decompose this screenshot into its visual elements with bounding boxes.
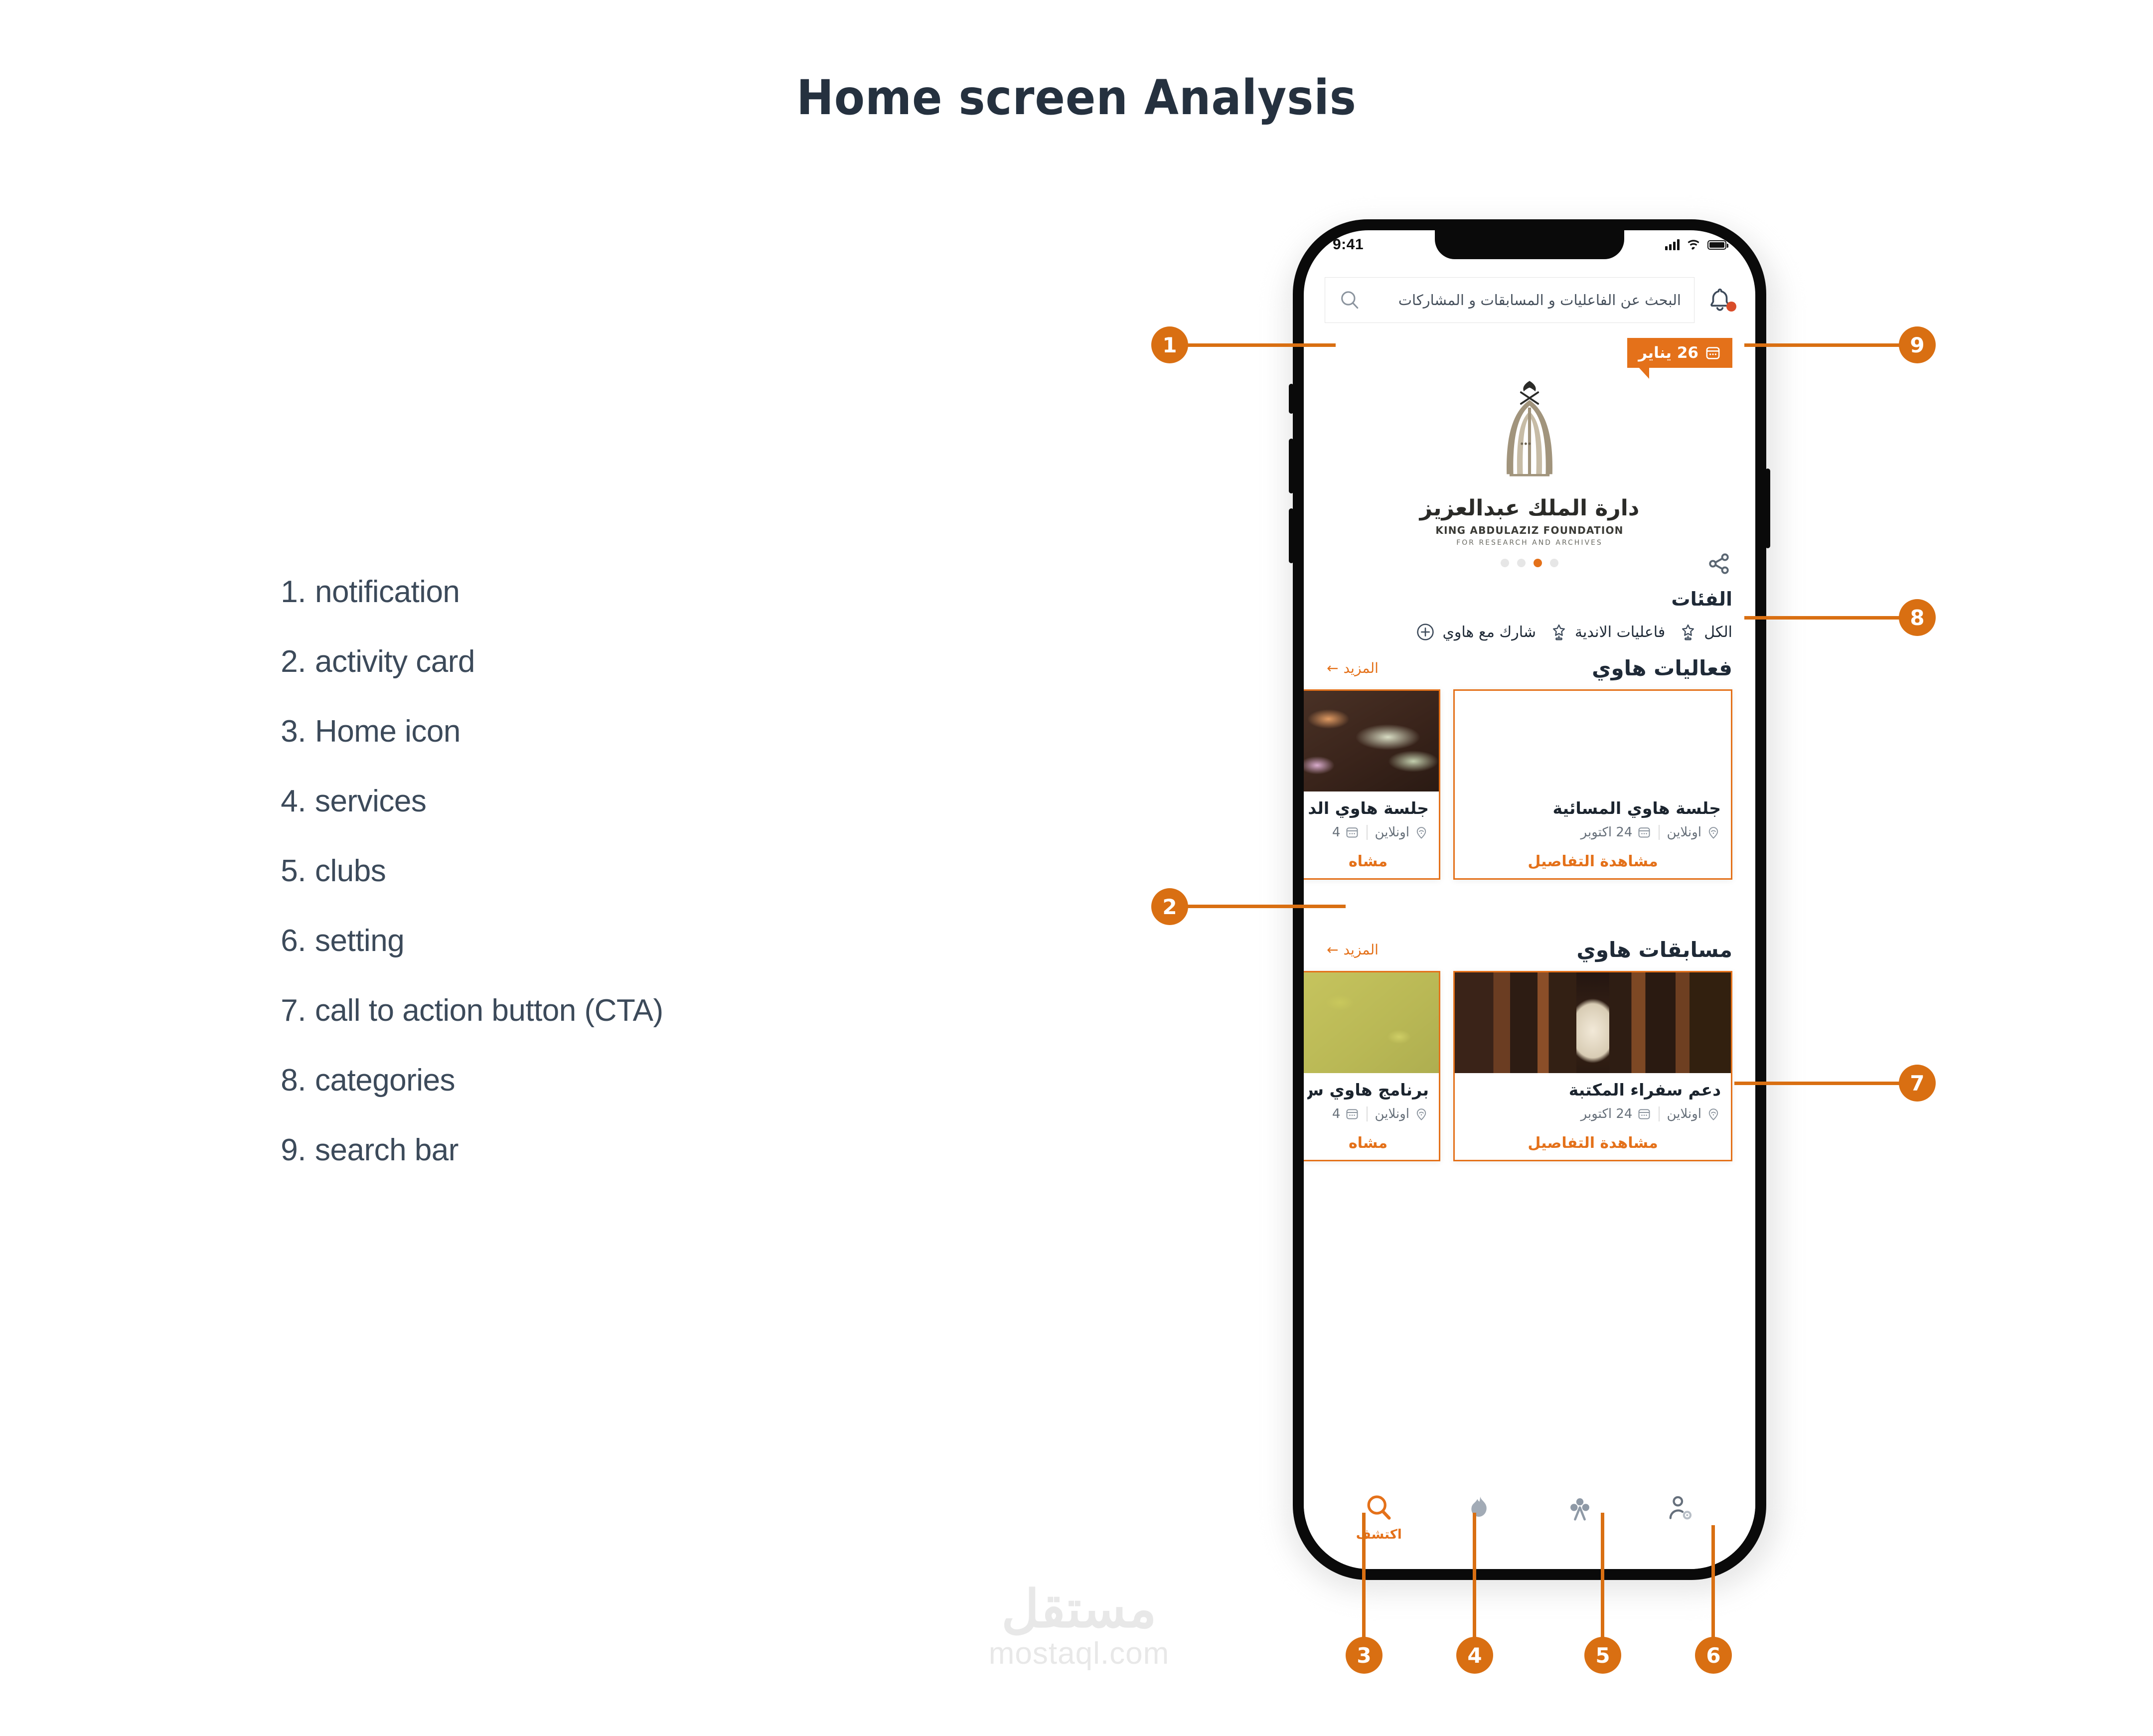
activity-card[interactable]: جلسة هاوي الد اونلاين [1304,689,1440,880]
search-icon[interactable] [1338,289,1361,312]
competitions-card-carousel[interactable]: دعم سفراء المكتبة اونلاين [1304,962,1755,1206]
list-item-number: 5. [269,853,315,889]
callout-marker-5: 5 [1584,1637,1621,1674]
date-badge-area: 26 يناير [1304,328,1755,376]
category-chip-club-events[interactable]: فاعليات الاندية [1549,622,1665,642]
callout-line-6 [1711,1525,1715,1645]
arrow-left-icon: ← [1327,942,1338,958]
callout-marker-1: 1 [1151,326,1188,363]
phone-screen: 9:41 [1304,230,1755,1569]
card-image [1455,972,1731,1073]
volume-down-button[interactable] [1289,508,1294,563]
callout-marker-9: 9 [1899,326,1936,363]
share-row [1304,550,1755,577]
card-date: 24 اكتوبر [1581,825,1652,840]
card-location: اونلاين [1667,1106,1721,1121]
card-image [1455,691,1731,791]
callout-line-2 [1186,905,1346,908]
calendar-icon [1345,825,1360,840]
callout-line-3 [1362,1513,1366,1645]
meta-divider [1367,1106,1368,1121]
activity-card[interactable]: دعم سفراء المكتبة اونلاين [1453,971,1732,1161]
carousel-dot[interactable] [1517,559,1526,567]
list-item: 7. call to action button (CTA) [269,993,867,1063]
card-title: جلسة هاوي المسائية [1465,798,1721,818]
card-location-label: اونلاين [1667,1106,1701,1121]
wifi-icon [1687,240,1700,250]
volume-up-button[interactable] [1289,439,1294,493]
section-header-competitions: مسابقات هاوي المزيد ← [1304,925,1755,962]
card-date-label: 24 اكتوبر [1581,825,1633,840]
plus-circle-icon [1414,621,1436,643]
card-body: جلسة هاوي الد اونلاين [1304,791,1439,878]
notch [1435,230,1624,259]
meta-divider [1367,825,1368,840]
callout-line-7 [1734,1082,1914,1085]
card-title: برنامج هاوي س [1307,1080,1429,1100]
calendar-icon [1704,344,1721,361]
card-cta-button[interactable]: مشاهدة التفاصيل [1465,853,1721,870]
list-item: 1. notification [269,574,867,644]
card-meta: اونلاين [1307,1106,1429,1121]
callout-line-5 [1601,1513,1604,1645]
activity-card[interactable]: جلسة هاوي المسائية اونلاين [1453,689,1732,880]
card-cta-button[interactable]: مشاهدة التفاصيل [1465,1134,1721,1152]
callout-marker-3: 3 [1346,1637,1383,1674]
list-item-label: notification [315,574,460,610]
nav-item-settings[interactable] [1643,1492,1717,1527]
signal-bars-icon [1665,239,1680,250]
card-meta: اونلاين [1465,825,1721,840]
carousel-dot-active[interactable] [1534,559,1542,567]
notification-badge-dot [1726,302,1736,312]
mute-switch[interactable] [1289,384,1294,414]
logo-english-subtitle: FOR RESEARCH AND ARCHIVES [1304,539,1755,547]
search-input[interactable]: البحث عن الفاعليات و المسابقات و المشارك… [1369,292,1681,309]
list-item-number: 4. [269,784,315,819]
activity-card[interactable]: برنامج هاوي س اونلاين [1304,971,1440,1161]
date-badge[interactable]: 26 يناير [1627,338,1732,368]
list-item-label: Home icon [315,714,461,749]
location-pin-icon [1706,825,1721,840]
page-title: Home screen Analysis [75,70,2078,126]
list-item: 8. categories [269,1063,867,1132]
list-item-number: 2. [269,644,315,679]
card-image [1304,972,1439,1073]
list-item-number: 9. [269,1132,315,1168]
trophy-star-icon [1549,622,1569,642]
callout-marker-8: 8 [1899,599,1936,636]
card-date-label: 4 [1332,1106,1341,1121]
person-gear-settings-icon [1664,1492,1696,1524]
card-body: برنامج هاوي س اونلاين [1304,1073,1439,1160]
card-meta: اونلاين [1307,825,1429,840]
nav-item-discover[interactable]: اكتشف [1342,1492,1416,1542]
category-chip-share-with-hawi[interactable]: شارك مع هاوي [1414,621,1536,643]
search-bar[interactable]: البحث عن الفاعليات و المسابقات و المشارك… [1325,277,1694,323]
callout-line-4 [1473,1513,1476,1645]
meta-divider [1659,1106,1660,1121]
calendar-icon [1637,1106,1652,1121]
card-date: 4 [1332,1106,1360,1121]
bottom-navigation: اكتشف [1304,1479,1755,1569]
list-item-label: search bar [315,1132,459,1168]
card-title: جلسة هاوي الد [1307,798,1429,818]
location-pin-icon [1706,1106,1721,1121]
callout-marker-2: 2 [1151,888,1188,925]
events-card-carousel[interactable]: جلسة هاوي المسائية اونلاين [1304,680,1755,925]
card-cta-button[interactable]: مشاه [1307,1134,1429,1152]
location-pin-icon [1414,825,1429,840]
search-discover-icon [1363,1492,1395,1524]
callout-marker-7: 7 [1899,1065,1936,1102]
card-location: اونلاين [1375,1106,1429,1121]
location-pin-icon [1414,1106,1429,1121]
watermark-arabic: مستقل [939,1582,1219,1637]
list-item-number: 6. [269,923,315,958]
card-title: دعم سفراء المكتبة [1465,1080,1721,1100]
watermark-latin: mostaql.com [939,1637,1219,1671]
legend-list: 1. notification 2. activity card 3. Home… [269,574,867,1202]
category-chip-all[interactable]: الكل [1678,622,1732,642]
callout-line-9 [1744,343,1914,347]
status-icons [1665,239,1726,250]
card-date: 24 اكتوبر [1581,1106,1652,1121]
see-more-link[interactable]: المزيد ← [1327,660,1379,676]
callout-line-8 [1744,616,1914,620]
clover-clubs-icon [1564,1492,1596,1524]
list-item-label: setting [315,923,404,958]
see-more-label: المزيد [1343,942,1378,958]
list-item: 4. services [269,784,867,853]
categories-row: الكل فاعليات الاندية [1304,610,1755,643]
app-content: البحث عن الفاعليات و المسابقات و المشارك… [1304,230,1755,1569]
arrow-left-icon: ← [1327,660,1338,676]
card-location-label: اونلاين [1667,825,1701,840]
list-item-number: 1. [269,574,315,610]
carousel-dot[interactable] [1550,559,1558,567]
list-item: 6. setting [269,923,867,993]
card-body: جلسة هاوي المسائية اونلاين [1455,791,1731,878]
calendar-icon [1345,1106,1360,1121]
list-item-label: categories [315,1063,455,1098]
status-time: 9:41 [1333,236,1364,253]
list-item-number: 7. [269,993,315,1028]
share-icon[interactable] [1705,550,1732,577]
logo-arabic-name: دارة الملك عبدالعزيز [1304,495,1755,521]
meta-divider [1659,825,1660,840]
card-location-label: اونلاين [1375,1106,1409,1121]
list-item: 9. search bar [269,1132,867,1202]
section-title: فعاليات هاوي [1592,656,1732,680]
section-header-events: فعاليات هاوي المزيد ← [1304,643,1755,680]
list-item-label: clubs [315,853,386,889]
card-meta: اونلاين [1465,1106,1721,1121]
card-cta-button[interactable]: مشاه [1307,853,1429,870]
brand-logo: دارة الملك عبدالعزيز KING ABDULAZIZ FOUN… [1304,376,1755,547]
callout-marker-4: 4 [1456,1637,1493,1674]
foundation-emblem-icon [1477,379,1582,493]
card-date-label: 24 اكتوبر [1581,1106,1633,1121]
list-item-label: call to action button (CTA) [315,993,663,1028]
flame-home-icon [1463,1492,1495,1524]
card-image [1304,691,1439,791]
categories-title: الفئات [1304,577,1755,610]
app-topbar: البحث عن الفاعليات و المسابقات و المشارك… [1304,259,1755,328]
list-item: 5. clubs [269,853,867,923]
carousel-dot[interactable] [1501,559,1509,567]
card-location: اونلاين [1667,825,1721,840]
list-item: 2. activity card [269,644,867,714]
logo-english-name: KING ABDULAZIZ FOUNDATION [1304,524,1755,536]
nav-item-clubs[interactable] [1542,1492,1617,1527]
notification-button[interactable] [1705,286,1734,315]
battery-icon [1707,240,1726,250]
phone-frame: 9:41 [1293,219,1766,1580]
nav-item-home[interactable] [1442,1492,1517,1527]
see-more-link[interactable]: المزيد ← [1327,942,1379,958]
category-label: شارك مع هاوي [1442,624,1536,641]
list-item-label: services [315,784,426,819]
power-button[interactable] [1765,469,1770,548]
card-location-label: اونلاين [1375,825,1409,840]
trophy-star-icon [1678,622,1698,642]
callout-marker-6: 6 [1695,1637,1732,1674]
card-date-label: 4 [1332,825,1341,840]
list-item-label: activity card [315,644,475,679]
calendar-icon [1637,825,1652,840]
list-item-number: 8. [269,1063,315,1098]
watermark: مستقل mostaql.com [939,1582,1219,1671]
list-item: 3. Home icon [269,714,867,784]
card-date: 4 [1332,825,1360,840]
card-body: دعم سفراء المكتبة اونلاين [1455,1073,1731,1160]
section-title: مسابقات هاوي [1576,938,1732,962]
see-more-label: المزيد [1343,660,1378,676]
card-location: اونلاين [1375,825,1429,840]
category-label: الكل [1704,624,1732,641]
date-badge-label: 26 يناير [1638,344,1698,362]
category-label: فاعليات الاندية [1575,624,1665,641]
callout-line-1 [1186,343,1336,347]
list-item-number: 3. [269,714,315,749]
